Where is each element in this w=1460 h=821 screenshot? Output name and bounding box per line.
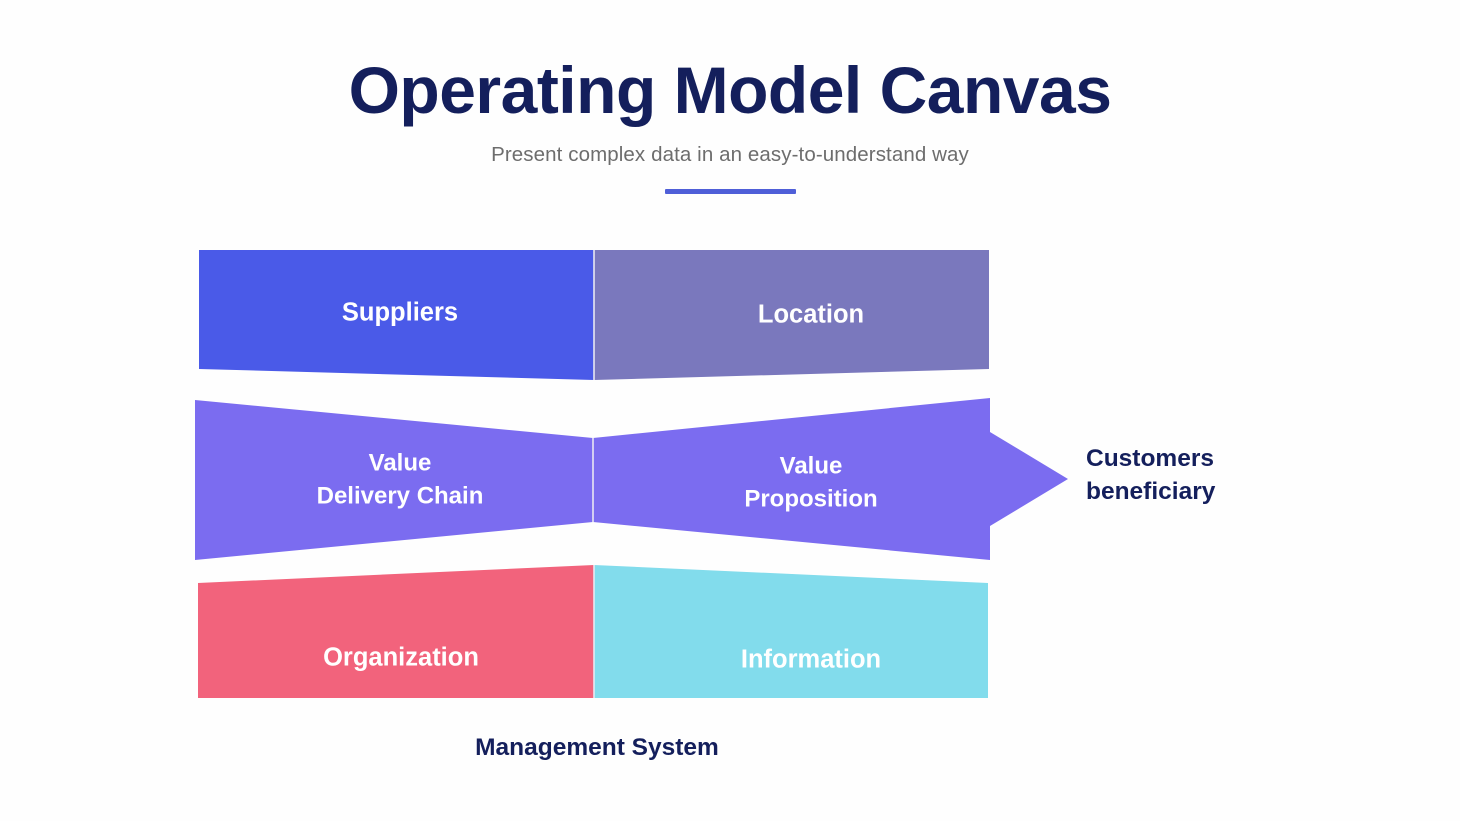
block-information[interactable]: Information: [594, 565, 988, 698]
block-location[interactable]: Location: [594, 250, 989, 380]
organization-shape[interactable]: [198, 565, 594, 698]
value-proposition-shape[interactable]: [593, 398, 1068, 560]
information-shape[interactable]: [594, 565, 988, 698]
diagram-row-bottom: Organization Information: [198, 565, 988, 698]
block-organization[interactable]: Organization: [198, 565, 594, 698]
annotation-management-system: Management System: [475, 734, 719, 761]
page-title: Operating Model Canvas: [0, 0, 1460, 125]
value-proposition-label-line2: Proposition: [744, 485, 877, 512]
value-delivery-chain-shape[interactable]: [195, 400, 593, 560]
block-suppliers[interactable]: Suppliers: [199, 250, 594, 380]
diagram-row-top: Suppliers Location: [199, 250, 989, 380]
block-value-delivery-chain[interactable]: Value Delivery Chain: [195, 400, 593, 560]
value-delivery-chain-label-line1: Value: [369, 449, 432, 476]
management-system-label: Management System: [475, 734, 719, 761]
diagram-row-middle: Value Delivery Chain Value Proposition: [195, 398, 1068, 560]
location-label: Location: [758, 301, 864, 329]
suppliers-shape[interactable]: [199, 250, 594, 380]
slide-header: Operating Model Canvas Present complex d…: [0, 0, 1460, 194]
block-value-proposition[interactable]: Value Proposition: [593, 398, 1068, 560]
page-subtitle: Present complex data in an easy-to-under…: [0, 125, 1460, 167]
value-delivery-chain-label-line2: Delivery Chain: [317, 482, 484, 509]
information-label: Information: [741, 646, 881, 674]
customers-beneficiary-line1: Customers: [1086, 445, 1214, 472]
slide-canvas: Operating Model Canvas Present complex d…: [0, 0, 1460, 821]
value-proposition-label-line1: Value: [780, 452, 843, 479]
organization-label: Organization: [323, 644, 479, 672]
customers-beneficiary-line2: beneficiary: [1086, 478, 1216, 505]
location-shape[interactable]: [594, 250, 989, 380]
suppliers-label: Suppliers: [342, 299, 458, 327]
accent-divider: [665, 189, 796, 194]
annotation-customers-beneficiary: Customers beneficiary: [1086, 445, 1216, 505]
